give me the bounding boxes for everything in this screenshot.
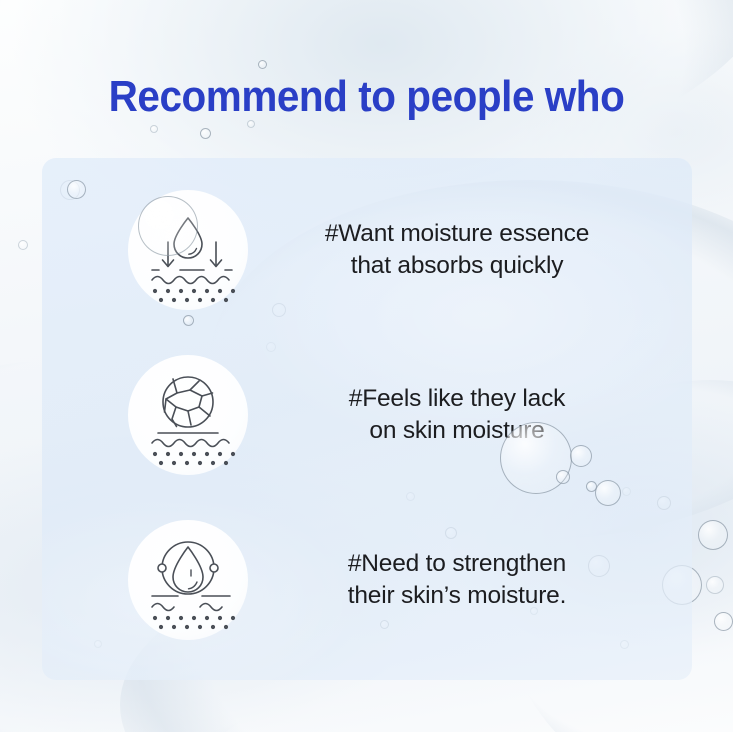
list-item: #Feels like they lack on skin moisture xyxy=(42,355,692,475)
list-item-text: #Feels like they lack on skin moisture xyxy=(248,383,692,448)
droplet-absorb-into-skin-icon xyxy=(128,190,248,310)
list-item-line2: on skin moisture xyxy=(258,415,656,447)
cracked-dry-sphere-icon xyxy=(128,355,248,475)
page-title: Recommend to people who xyxy=(29,72,703,122)
list-item-line2: their skin’s moisture. xyxy=(258,580,656,612)
poster-canvas: Recommend to people who xyxy=(0,0,733,732)
list-item: #Want moisture essence that absorbs quic… xyxy=(42,190,692,310)
list-item-text: #Want moisture essence that absorbs quic… xyxy=(248,218,692,283)
list-item-text: #Need to strengthen their skin’s moistur… xyxy=(248,548,692,613)
recommendation-panel: #Want moisture essence that absorbs quic… xyxy=(42,158,692,680)
list-item-line1: #Feels like they lack xyxy=(349,385,565,412)
list-item-line1: #Need to strengthen xyxy=(348,550,566,577)
droplet-in-circle-strengthen-icon xyxy=(128,520,248,640)
list-item-line2: that absorbs quickly xyxy=(258,250,656,282)
list-item: #Need to strengthen their skin’s moistur… xyxy=(42,520,692,640)
list-item-line1: #Want moisture essence xyxy=(325,220,589,247)
